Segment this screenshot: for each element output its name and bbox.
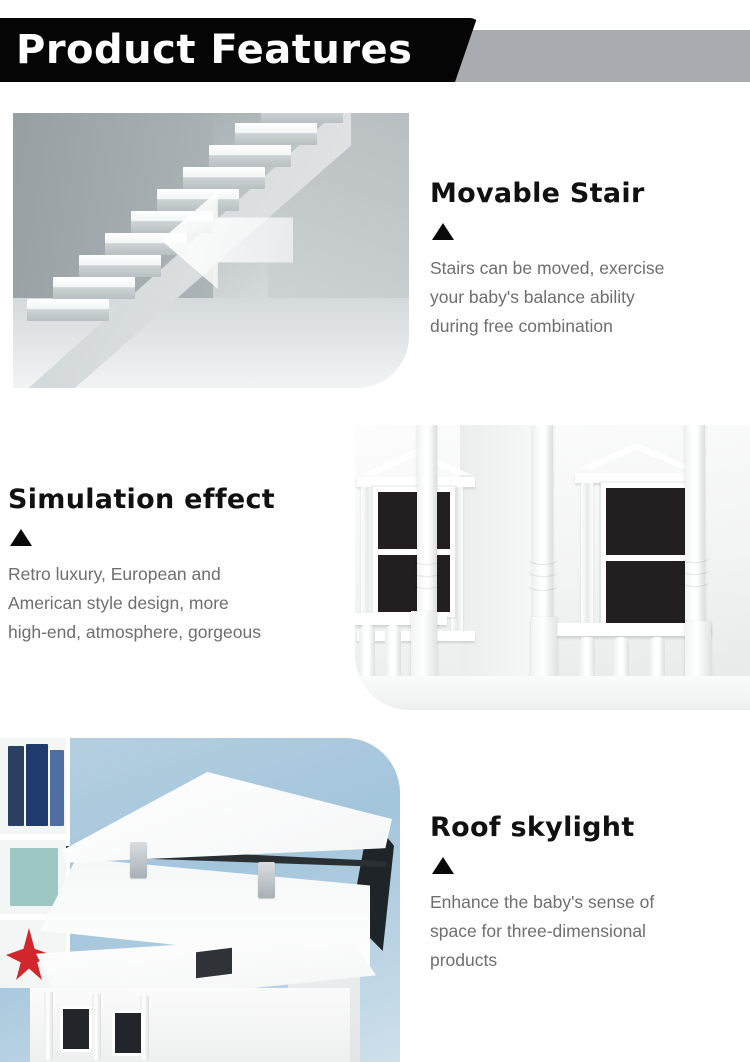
page-header: Product Features (0, 0, 750, 100)
feature-description: Enhance the baby's sense of space for th… (430, 888, 730, 975)
facade-wall-shade (460, 425, 540, 710)
feature-text-roof-skylight: Roof skylight Enhance the baby's sense o… (430, 812, 730, 975)
feature-text-simulation-effect: Simulation effect Retro luxury, European… (8, 484, 338, 647)
facade-column-knob (529, 581, 557, 590)
feature-image-simulation-effect (355, 425, 750, 710)
facade-column (417, 425, 437, 625)
feature-description: Stairs can be moved, exercise your baby'… (430, 254, 730, 341)
facade-pilaster (581, 483, 593, 643)
house-column (44, 992, 53, 1060)
hinge-hardware (130, 842, 147, 878)
book (10, 848, 58, 906)
facade-lintel (575, 473, 703, 483)
facade-window (373, 487, 455, 617)
stair-step (157, 189, 239, 211)
facade-column-knob (681, 577, 709, 586)
hinge-hardware (258, 862, 275, 898)
feature-heading: Simulation effect (8, 484, 338, 515)
stair-step (261, 113, 343, 123)
stair-step (209, 145, 291, 167)
book (50, 750, 64, 826)
triangle-up-icon (432, 857, 454, 874)
skylight-opening (196, 948, 232, 978)
stair-step (53, 277, 135, 299)
feature-text-movable-stair: Movable Stair Stairs can be moved, exerc… (430, 178, 730, 341)
feature-heading: Roof skylight (430, 812, 730, 843)
book (8, 746, 24, 826)
book (26, 744, 48, 826)
house-window (112, 1010, 144, 1056)
facade-window-mullion (373, 549, 455, 555)
facade-column-knob (413, 567, 441, 576)
bookshelf-divider (0, 834, 66, 840)
feature-image-movable-stair (13, 113, 409, 388)
feature-image-roof-skylight (0, 738, 400, 1062)
triangle-up-icon (432, 223, 454, 240)
facade-column-knob (681, 565, 709, 574)
facade-column-knob (681, 553, 709, 562)
facade-column-knob (413, 555, 441, 564)
house-column (92, 994, 101, 1060)
feature-description: Retro luxury, European and American styl… (8, 560, 338, 647)
facade-column-knob (413, 579, 441, 588)
facade-column (685, 425, 705, 630)
triangle-up-icon (10, 529, 32, 546)
stair-step (183, 167, 265, 189)
facade-column (533, 425, 553, 635)
feature-heading: Movable Stair (430, 178, 730, 209)
stair-step (235, 123, 317, 145)
stair-step (79, 255, 161, 277)
facade-lintel (357, 477, 475, 487)
stair-step (27, 299, 109, 321)
house-window (60, 1006, 92, 1052)
facade-deck (355, 676, 750, 710)
facade-column-knob (529, 555, 557, 564)
page-title: Product Features (16, 24, 412, 76)
facade-column-knob (529, 567, 557, 576)
